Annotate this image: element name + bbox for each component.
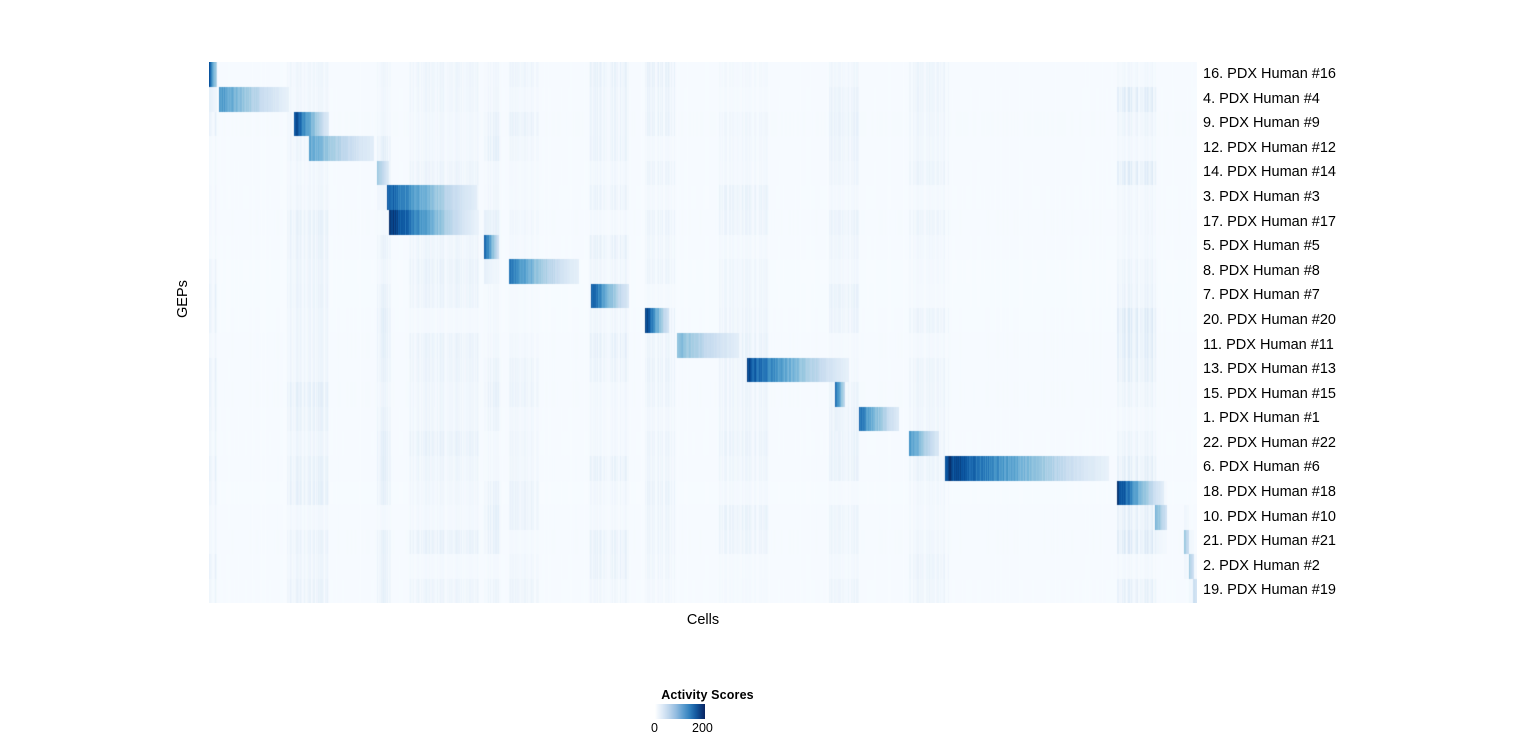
row-label: 21. PDX Human #21 — [1203, 529, 1336, 554]
row-label: 6. PDX Human #6 — [1203, 455, 1320, 480]
colorbar-legend: Activity Scores 0200 — [600, 688, 815, 738]
row-label: 10. PDX Human #10 — [1203, 505, 1336, 530]
row-label: 17. PDX Human #17 — [1203, 210, 1336, 235]
colorbar-gradient — [655, 704, 705, 719]
row-label: 11. PDX Human #11 — [1203, 333, 1334, 358]
row-label: 4. PDX Human #4 — [1203, 87, 1320, 112]
row-label-list: 16. PDX Human #164. PDX Human #49. PDX H… — [1203, 62, 1523, 603]
legend-tick-label: 0 — [651, 721, 658, 735]
legend-tick-label: 200 — [692, 721, 713, 735]
row-label: 5. PDX Human #5 — [1203, 234, 1320, 259]
y-axis-label: GEPs — [175, 298, 191, 318]
row-label: 1. PDX Human #1 — [1203, 406, 1320, 431]
row-label: 18. PDX Human #18 — [1203, 480, 1336, 505]
row-label: 3. PDX Human #3 — [1203, 185, 1320, 210]
row-label: 19. PDX Human #19 — [1203, 578, 1336, 603]
row-label: 8. PDX Human #8 — [1203, 259, 1320, 284]
row-label: 22. PDX Human #22 — [1203, 431, 1336, 456]
legend-title: Activity Scores — [600, 688, 815, 702]
row-label: 20. PDX Human #20 — [1203, 308, 1336, 333]
row-label: 15. PDX Human #15 — [1203, 382, 1336, 407]
row-label: 7. PDX Human #7 — [1203, 283, 1320, 308]
row-label: 14. PDX Human #14 — [1203, 160, 1336, 185]
row-label: 2. PDX Human #2 — [1203, 554, 1320, 579]
heatmap-figure: GEPs Cells 16. PDX Human #164. PDX Human… — [0, 0, 1540, 743]
heatmap-canvas[interactable] — [209, 62, 1197, 603]
row-label: 9. PDX Human #9 — [1203, 111, 1320, 136]
row-label: 12. PDX Human #12 — [1203, 136, 1336, 161]
x-axis-label: Cells — [209, 612, 1197, 628]
row-label: 13. PDX Human #13 — [1203, 357, 1336, 382]
row-label: 16. PDX Human #16 — [1203, 62, 1336, 87]
heatmap-plot-area[interactable] — [209, 62, 1197, 603]
